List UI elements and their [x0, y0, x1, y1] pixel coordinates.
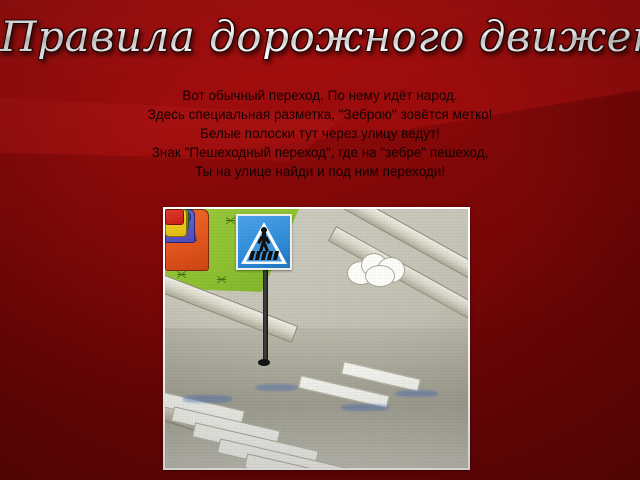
presentation-slide: Правила дорожного движения Вот обычный п…	[0, 0, 640, 480]
cloud-icon	[347, 253, 407, 287]
stripe-shadow	[395, 390, 437, 397]
stripe-shadow	[341, 404, 389, 411]
page-title: Правила дорожного движения	[0, 14, 640, 59]
sign-post-base	[258, 359, 270, 366]
grass-tuft-icon	[177, 271, 186, 278]
poem-line-5: Ты на улице найди и под ним переходи!	[0, 162, 640, 181]
sign-post	[263, 266, 268, 364]
zebra-crossing	[165, 323, 468, 468]
poem-line-2: Здесь специальная разметка, "Зеброю" зов…	[0, 105, 640, 124]
grass-tuft-icon	[217, 276, 226, 283]
title-area: Правила дорожного движения	[0, 14, 640, 59]
illustration-scene	[165, 209, 468, 468]
poem-line-1: Вот обычный переход. По нему идёт народ.	[0, 86, 640, 105]
poem-line-3: Белые полоски тут через улицу ведут!	[0, 124, 640, 143]
stripe-shadow	[256, 384, 298, 391]
illustration-image	[163, 207, 470, 470]
poem-text-block: Вот обычный переход. По нему идёт народ.…	[0, 86, 640, 181]
grass-tuft-icon	[226, 217, 235, 224]
stripe-shadow	[183, 395, 231, 402]
pedestrian-crossing-sign-icon	[236, 214, 292, 270]
poem-line-4: Знак "Пешеходный переход", где на "зебре…	[0, 143, 640, 162]
sign-zebra-stripes	[247, 251, 281, 260]
red-bag-icon	[165, 209, 184, 225]
